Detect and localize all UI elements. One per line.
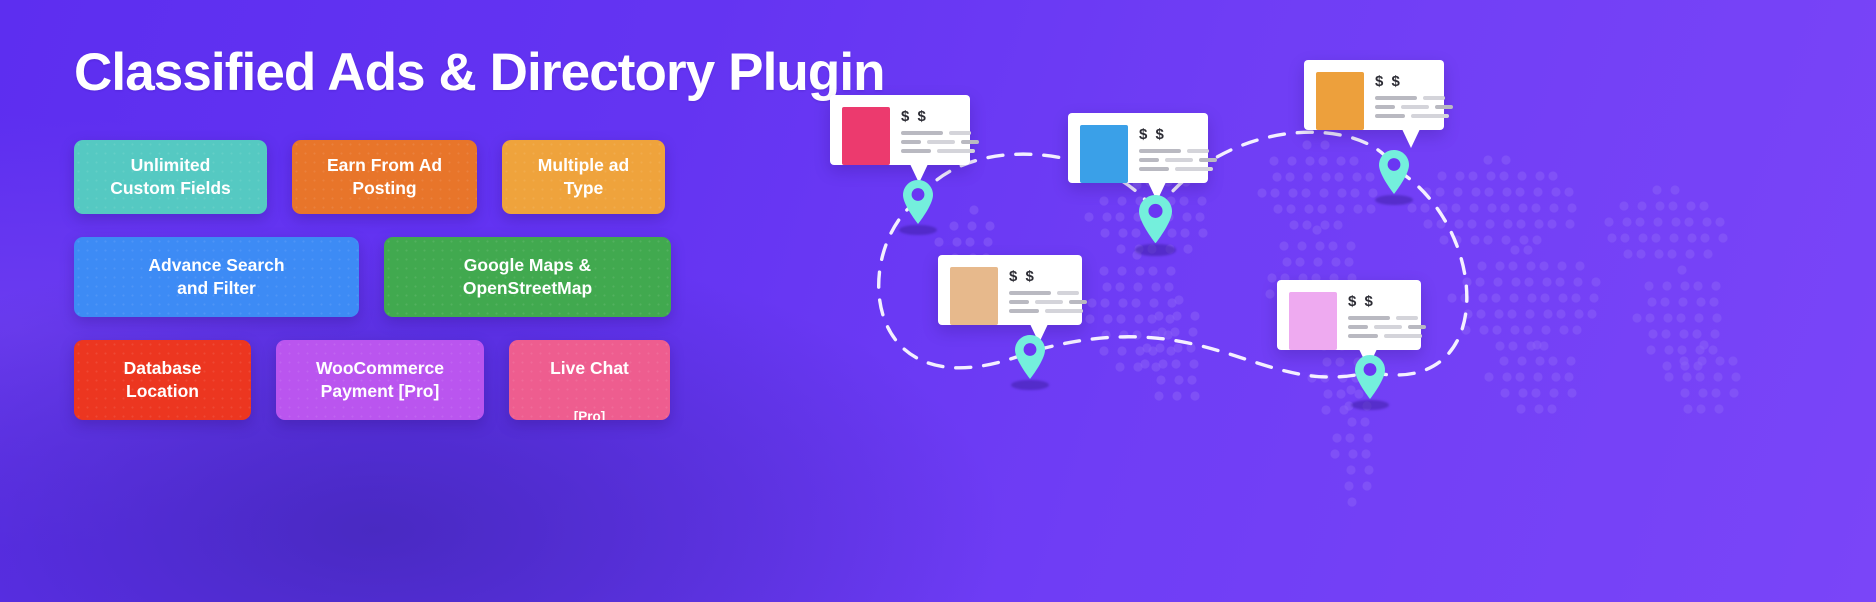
ad-detail-bar (1384, 334, 1422, 338)
ad-card[interactable]: $ $ (1068, 113, 1208, 183)
ad-detail-bar (927, 140, 955, 144)
map-pin[interactable] (1355, 355, 1385, 411)
ad-detail-bar (1401, 105, 1429, 109)
page-title: Classified Ads & Directory Plugin (74, 44, 830, 102)
ad-detail-bar (901, 140, 921, 144)
map-pin[interactable] (1379, 150, 1409, 206)
ad-price-label: $ $ (1139, 127, 1217, 142)
ad-detail-bar (1348, 334, 1378, 338)
ad-card-body: $ $ (901, 107, 979, 153)
ad-card-body: $ $ (1348, 292, 1426, 338)
ad-card[interactable]: $ $ (938, 255, 1082, 325)
ad-detail-lines (1375, 96, 1453, 118)
feature-chip-label: WooCommerce Payment [Pro] (316, 357, 444, 404)
world-map-illustration: $ $$ $$ $$ $$ $ (790, 0, 1876, 602)
ad-detail-bar (961, 140, 979, 144)
map-pin-shadow (1135, 244, 1176, 255)
ad-detail-bar (1396, 316, 1418, 320)
ad-detail-bar (1199, 158, 1217, 162)
ad-detail-lines (1009, 291, 1087, 313)
feature-chip-label: Advance Search and Filter (148, 254, 284, 301)
ad-detail-bar (1165, 158, 1193, 162)
map-pin[interactable] (903, 180, 933, 236)
hero-banner: Classified Ads & Directory Plugin Unlimi… (0, 0, 1876, 602)
ad-detail-bar (1009, 291, 1051, 295)
ad-detail-bar (1139, 158, 1159, 162)
ad-detail-bar (1057, 291, 1079, 295)
ad-detail-bar (1375, 114, 1405, 118)
ad-card-body: $ $ (1009, 267, 1087, 313)
ad-detail-bar (1408, 325, 1426, 329)
ad-thumbnail (1080, 125, 1128, 183)
ad-detail-bar (1035, 300, 1063, 304)
ad-detail-bar (1423, 96, 1445, 100)
ad-detail-line-row (1009, 291, 1087, 295)
ad-detail-bar (1411, 114, 1449, 118)
ad-detail-bar (1175, 167, 1213, 171)
feature-chip-label: Earn From Ad Posting (327, 154, 442, 201)
ad-detail-lines (1348, 316, 1426, 338)
map-pin-shadow (899, 225, 937, 235)
ad-thumbnail (950, 267, 998, 325)
ad-card-body: $ $ (1375, 72, 1453, 118)
ad-price-label: $ $ (1009, 269, 1087, 284)
ad-detail-bar (1069, 300, 1087, 304)
feature-chip-label: Google Maps & OpenStreetMap (463, 254, 592, 301)
ad-detail-line-row (1375, 105, 1453, 109)
ad-detail-bar (1009, 300, 1029, 304)
ad-detail-line-row (1375, 114, 1453, 118)
map-pin-shadow (1375, 195, 1413, 205)
feature-chip-woocommerce-payment-pro[interactable]: WooCommerce Payment [Pro] (276, 340, 484, 420)
feature-chip-google-maps-openstreetmap[interactable]: Google Maps & OpenStreetMap (384, 237, 671, 317)
ad-detail-bar (1009, 309, 1039, 313)
ad-detail-line-row (1139, 158, 1217, 162)
left-content-panel: Classified Ads & Directory Plugin Unlimi… (0, 0, 830, 602)
map-pin-icon (1355, 355, 1385, 399)
ad-detail-line-row (1139, 167, 1217, 171)
feature-chip-label: Multiple ad Type (538, 154, 629, 201)
ad-detail-lines (901, 131, 979, 153)
ad-detail-line-row (1009, 300, 1087, 304)
ad-price-label: $ $ (1348, 294, 1426, 309)
ad-detail-bar (1139, 167, 1169, 171)
ad-detail-bar (1139, 149, 1181, 153)
feature-chip-live-chat-pro[interactable]: Live Chat [Pro] (509, 340, 670, 420)
feature-chip-multiple-ad-type[interactable]: Multiple ad Type (502, 140, 665, 214)
map-pin-shadow (1351, 400, 1389, 410)
feature-chip-sublabel: [Pro] (574, 409, 606, 420)
ad-detail-bar (1348, 316, 1390, 320)
feature-chip-stack: Live Chat [Pro] (550, 340, 629, 420)
map-pin[interactable] (1139, 195, 1172, 255)
feature-chip-label: Live Chat (550, 358, 629, 378)
ad-detail-bar (1374, 325, 1402, 329)
feature-chip-unlimited-custom-fields[interactable]: Unlimited Custom Fields (74, 140, 267, 214)
ad-detail-line-row (1348, 325, 1426, 329)
ad-detail-line-row (1348, 334, 1426, 338)
ad-price-label: $ $ (1375, 74, 1453, 89)
ad-card[interactable]: $ $ (1304, 60, 1444, 130)
ad-detail-bar (937, 149, 975, 153)
map-pin-icon (1379, 150, 1409, 194)
ad-detail-line-row (1348, 316, 1426, 320)
ad-detail-bar (901, 131, 943, 135)
feature-chip-label: Unlimited Custom Fields (110, 154, 231, 201)
ad-card[interactable]: $ $ (830, 95, 970, 165)
feature-row-3: Database Location WooCommerce Payment [P… (74, 340, 714, 420)
ad-price-label: $ $ (901, 109, 979, 124)
ad-card-body: $ $ (1139, 125, 1217, 171)
ad-thumbnail (842, 107, 890, 165)
ad-detail-bar (1375, 105, 1395, 109)
ad-detail-line-row (1139, 149, 1217, 153)
ad-detail-bar (901, 149, 931, 153)
ad-detail-line-row (1375, 96, 1453, 100)
map-pin-icon (903, 180, 933, 224)
feature-row-2: Advance Search and Filter Google Maps & … (74, 237, 714, 317)
ad-detail-bar (1375, 96, 1417, 100)
ad-card-pointer-tail (1402, 129, 1420, 148)
ad-thumbnail (1316, 72, 1364, 130)
ad-detail-bar (1435, 105, 1453, 109)
map-pin[interactable] (1015, 335, 1045, 391)
ad-detail-bar (949, 131, 971, 135)
feature-chip-label: Database Location (124, 357, 202, 404)
ad-detail-line-row (901, 149, 979, 153)
ad-detail-line-row (1009, 309, 1087, 313)
feature-chip-earn-from-ad-posting[interactable]: Earn From Ad Posting (292, 140, 477, 214)
feature-chip-grid: Unlimited Custom Fields Earn From Ad Pos… (74, 140, 714, 420)
ad-detail-bar (1187, 149, 1209, 153)
feature-chip-database-location[interactable]: Database Location (74, 340, 251, 420)
feature-row-1: Unlimited Custom Fields Earn From Ad Pos… (74, 140, 714, 214)
ad-detail-line-row (901, 140, 979, 144)
ad-detail-lines (1139, 149, 1217, 171)
ad-detail-bar (1045, 309, 1083, 313)
map-pin-shadow (1011, 380, 1049, 390)
ad-detail-line-row (901, 131, 979, 135)
map-pin-icon (1139, 195, 1172, 243)
map-pin-icon (1015, 335, 1045, 379)
ad-thumbnail (1289, 292, 1337, 350)
feature-chip-advance-search-and-filter[interactable]: Advance Search and Filter (74, 237, 359, 317)
ad-detail-bar (1348, 325, 1368, 329)
ad-card[interactable]: $ $ (1277, 280, 1421, 350)
